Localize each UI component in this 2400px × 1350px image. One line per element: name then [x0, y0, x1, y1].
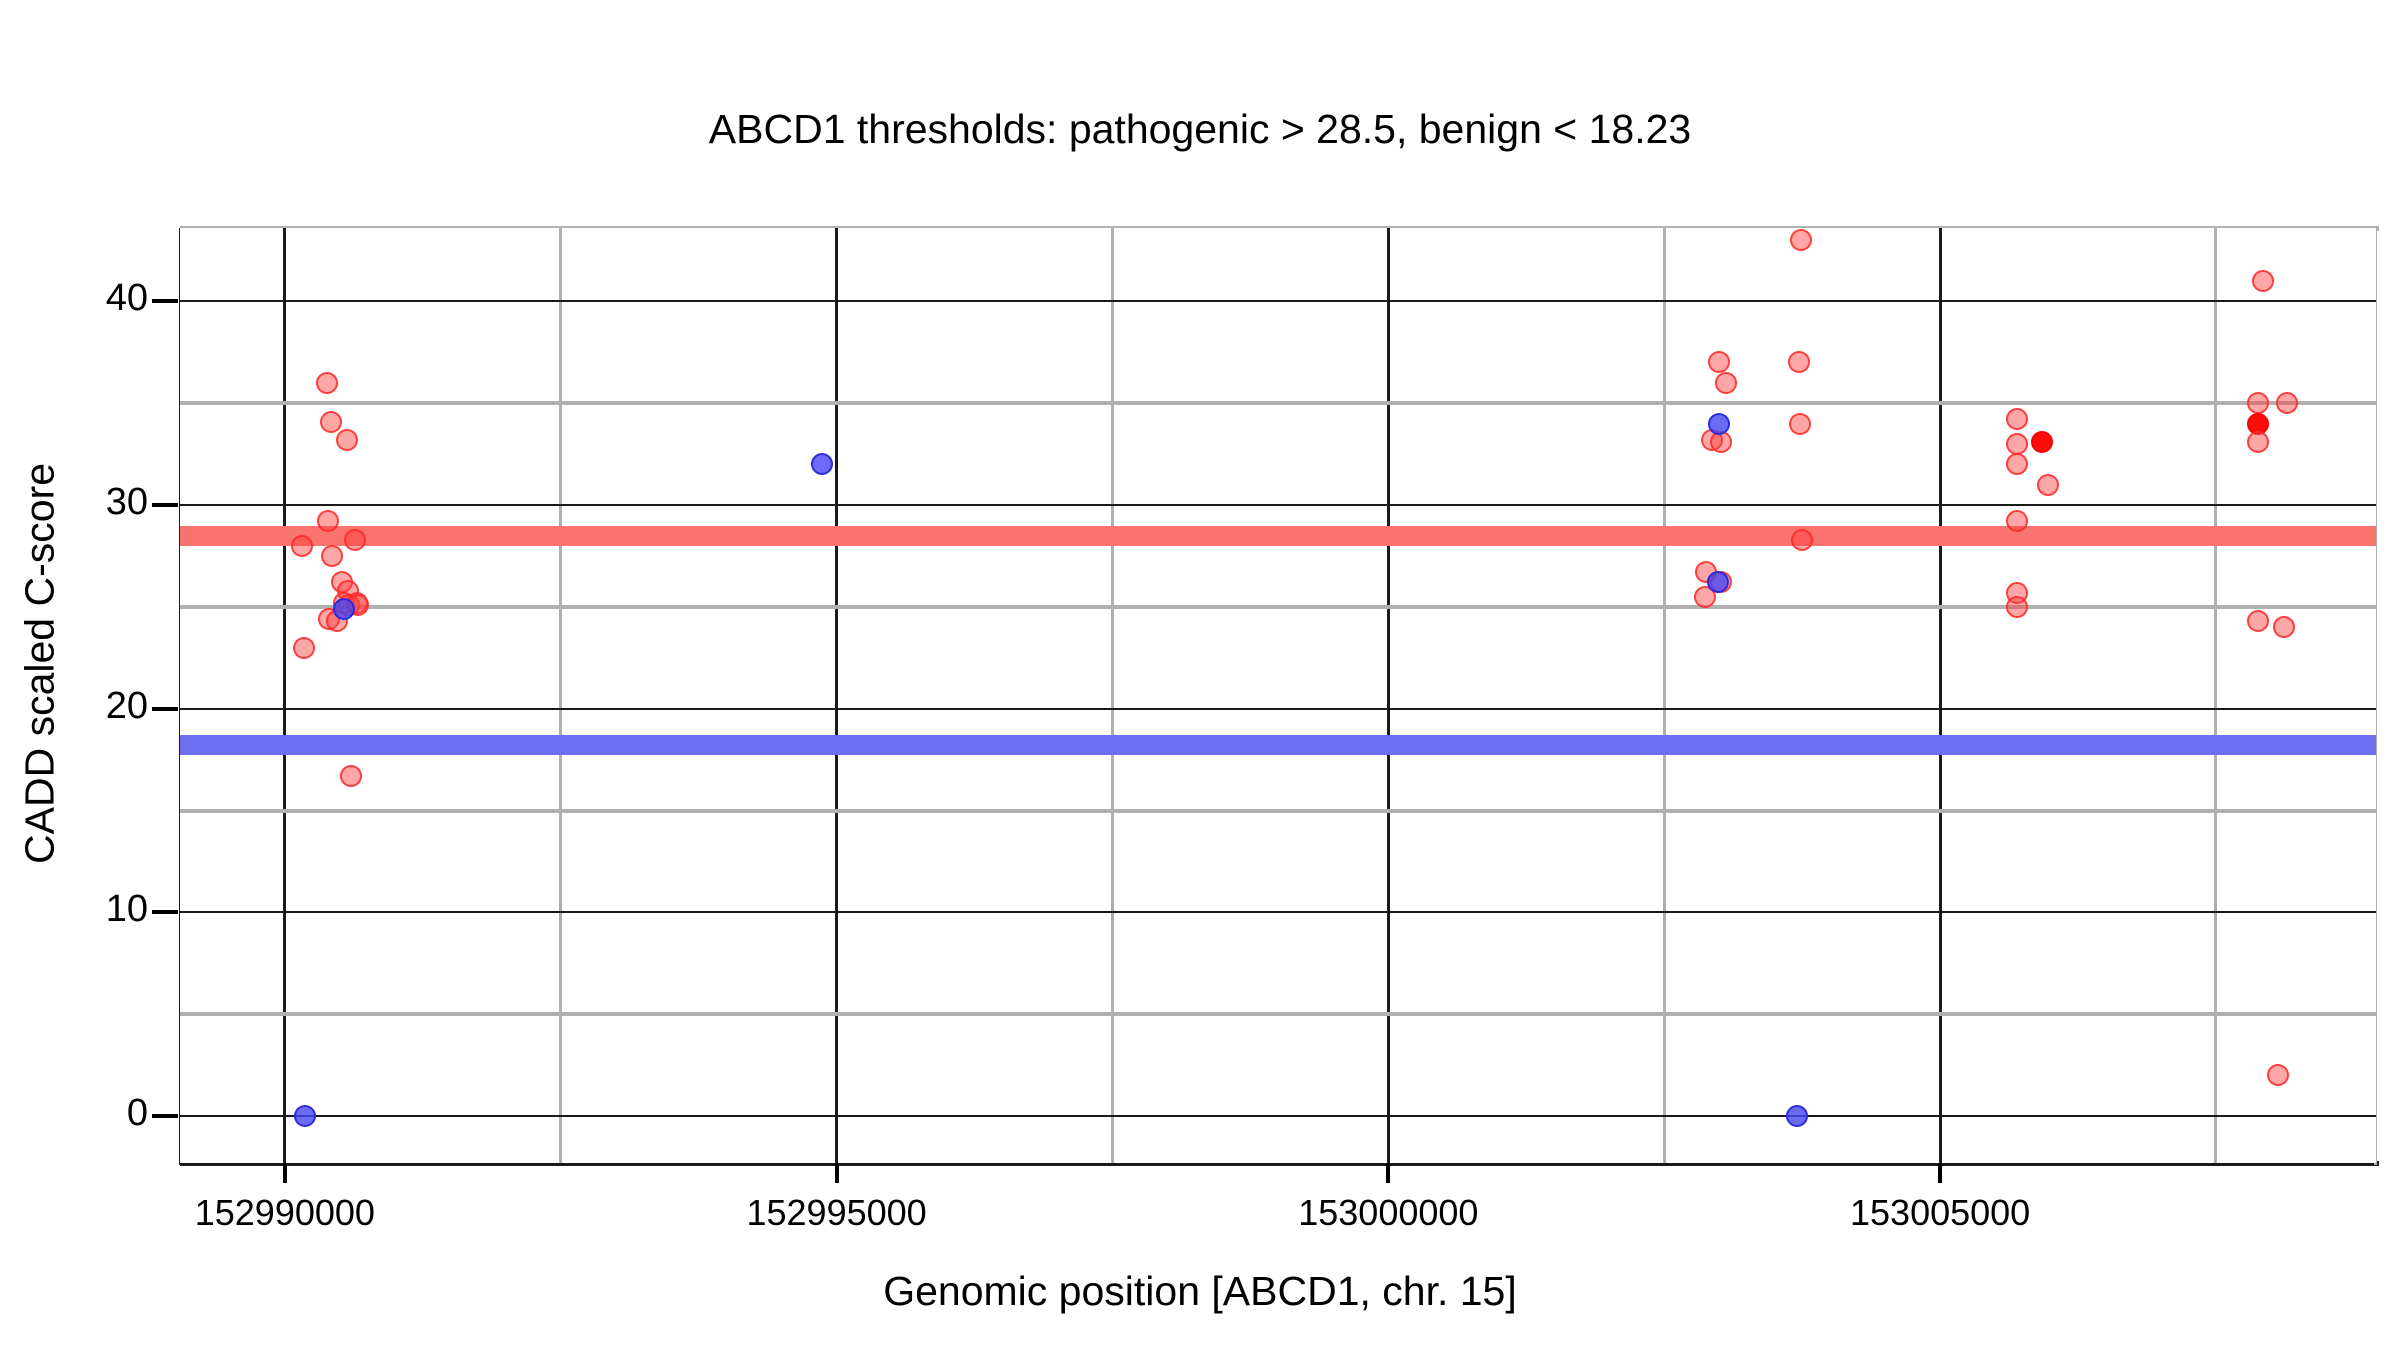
data-point-clinvar — [2252, 270, 2274, 292]
y-gridline-major — [180, 504, 2376, 506]
data-point-exac — [333, 598, 355, 620]
data-point-clinvar — [1715, 372, 1737, 394]
data-point-clinvar — [336, 429, 358, 451]
data-point-clinvar — [2276, 392, 2298, 414]
data-point-clinvar — [2006, 453, 2028, 475]
scatter-plot-figure: ABCD1 thresholds: pathogenic > 28.5, ben… — [0, 0, 2400, 1350]
data-point-exac — [811, 453, 833, 475]
data-point-clinvar — [2247, 610, 2269, 632]
threshold-band-benign — [180, 735, 2376, 755]
x-axis-tick — [1386, 1163, 1390, 1183]
y-axis-tick — [152, 503, 178, 507]
y-axis-title: CADD scaled C-score — [17, 284, 64, 1044]
data-point-clinvar — [1789, 413, 1811, 435]
x-axis-tick-label: 153005000 — [1850, 1192, 2030, 1234]
x-gridline-major — [1387, 228, 1390, 1163]
y-gridline-minor — [180, 809, 2376, 813]
x-gridline-major — [835, 228, 838, 1163]
data-point-clinvar — [1790, 229, 1812, 251]
data-point-clinvar — [1708, 351, 1730, 373]
threshold-band-pathogenic — [180, 526, 2376, 546]
data-point-clinvar — [2037, 474, 2059, 496]
data-point-clinvar — [321, 545, 343, 567]
x-axis-tick — [835, 1163, 839, 1183]
x-gridline-major — [1939, 228, 1942, 1163]
y-axis-tick — [152, 910, 178, 914]
data-point-clinvar — [2006, 596, 2028, 618]
x-gridline-major — [283, 228, 286, 1163]
x-gridline-minor — [1663, 228, 1666, 1163]
y-gridline-major — [180, 1115, 2376, 1117]
data-point-clinvar — [340, 765, 362, 787]
data-point-clinvar — [2031, 431, 2053, 453]
data-point-clinvar — [320, 411, 342, 433]
y-gridline-major — [180, 708, 2376, 710]
data-point-clinvar — [2247, 392, 2269, 414]
y-axis-tick-label: 20 — [106, 685, 148, 728]
y-gridline-minor — [180, 1012, 2376, 1016]
plot-area — [180, 228, 2376, 1163]
x-axis-tick — [1938, 1163, 1942, 1183]
data-point-clinvar — [344, 529, 366, 551]
y-gridline-major — [180, 911, 2376, 913]
x-axis-tick — [283, 1163, 287, 1183]
data-point-clinvar — [2006, 433, 2028, 455]
x-axis-title: Genomic position [ABCD1, chr. 15] — [0, 1268, 2400, 1315]
data-point-clinvar — [293, 637, 315, 659]
y-axis-tick — [152, 1114, 178, 1118]
data-point-clinvar — [291, 535, 313, 557]
x-gridline-minor — [1111, 228, 1114, 1163]
data-point-clinvar — [1791, 529, 1813, 551]
y-axis-tick — [152, 707, 178, 711]
y-axis-tick — [152, 299, 178, 303]
data-point-clinvar — [1788, 351, 1810, 373]
y-axis-tick-label: 30 — [106, 481, 148, 524]
y-gridline-major — [180, 300, 2376, 302]
y-axis-tick-label: 0 — [127, 1092, 148, 1135]
x-gridline-minor — [2214, 228, 2217, 1163]
y-gridline-minor — [180, 605, 2376, 609]
data-point-exac — [1708, 413, 1730, 435]
y-axis-tick-label: 40 — [106, 277, 148, 320]
chart-title-line-1: ABCD1 thresholds: pathogenic > 28.5, ben… — [0, 106, 2400, 153]
x-axis-tick-label: 152990000 — [195, 1192, 375, 1234]
x-gridline-minor — [559, 228, 562, 1163]
data-point-clinvar — [316, 372, 338, 394]
data-point-clinvar — [2267, 1064, 2289, 1086]
x-axis-tick-label: 152995000 — [746, 1192, 926, 1234]
y-gridline-minor — [180, 401, 2376, 405]
data-point-clinvar — [2247, 431, 2269, 453]
data-point-exac — [1786, 1105, 1808, 1127]
data-point-exac — [294, 1105, 316, 1127]
x-axis-tick-label: 153000000 — [1298, 1192, 1478, 1234]
data-point-clinvar — [2273, 616, 2295, 638]
y-axis-tick-label: 10 — [106, 888, 148, 931]
data-point-clinvar — [2006, 408, 2028, 430]
